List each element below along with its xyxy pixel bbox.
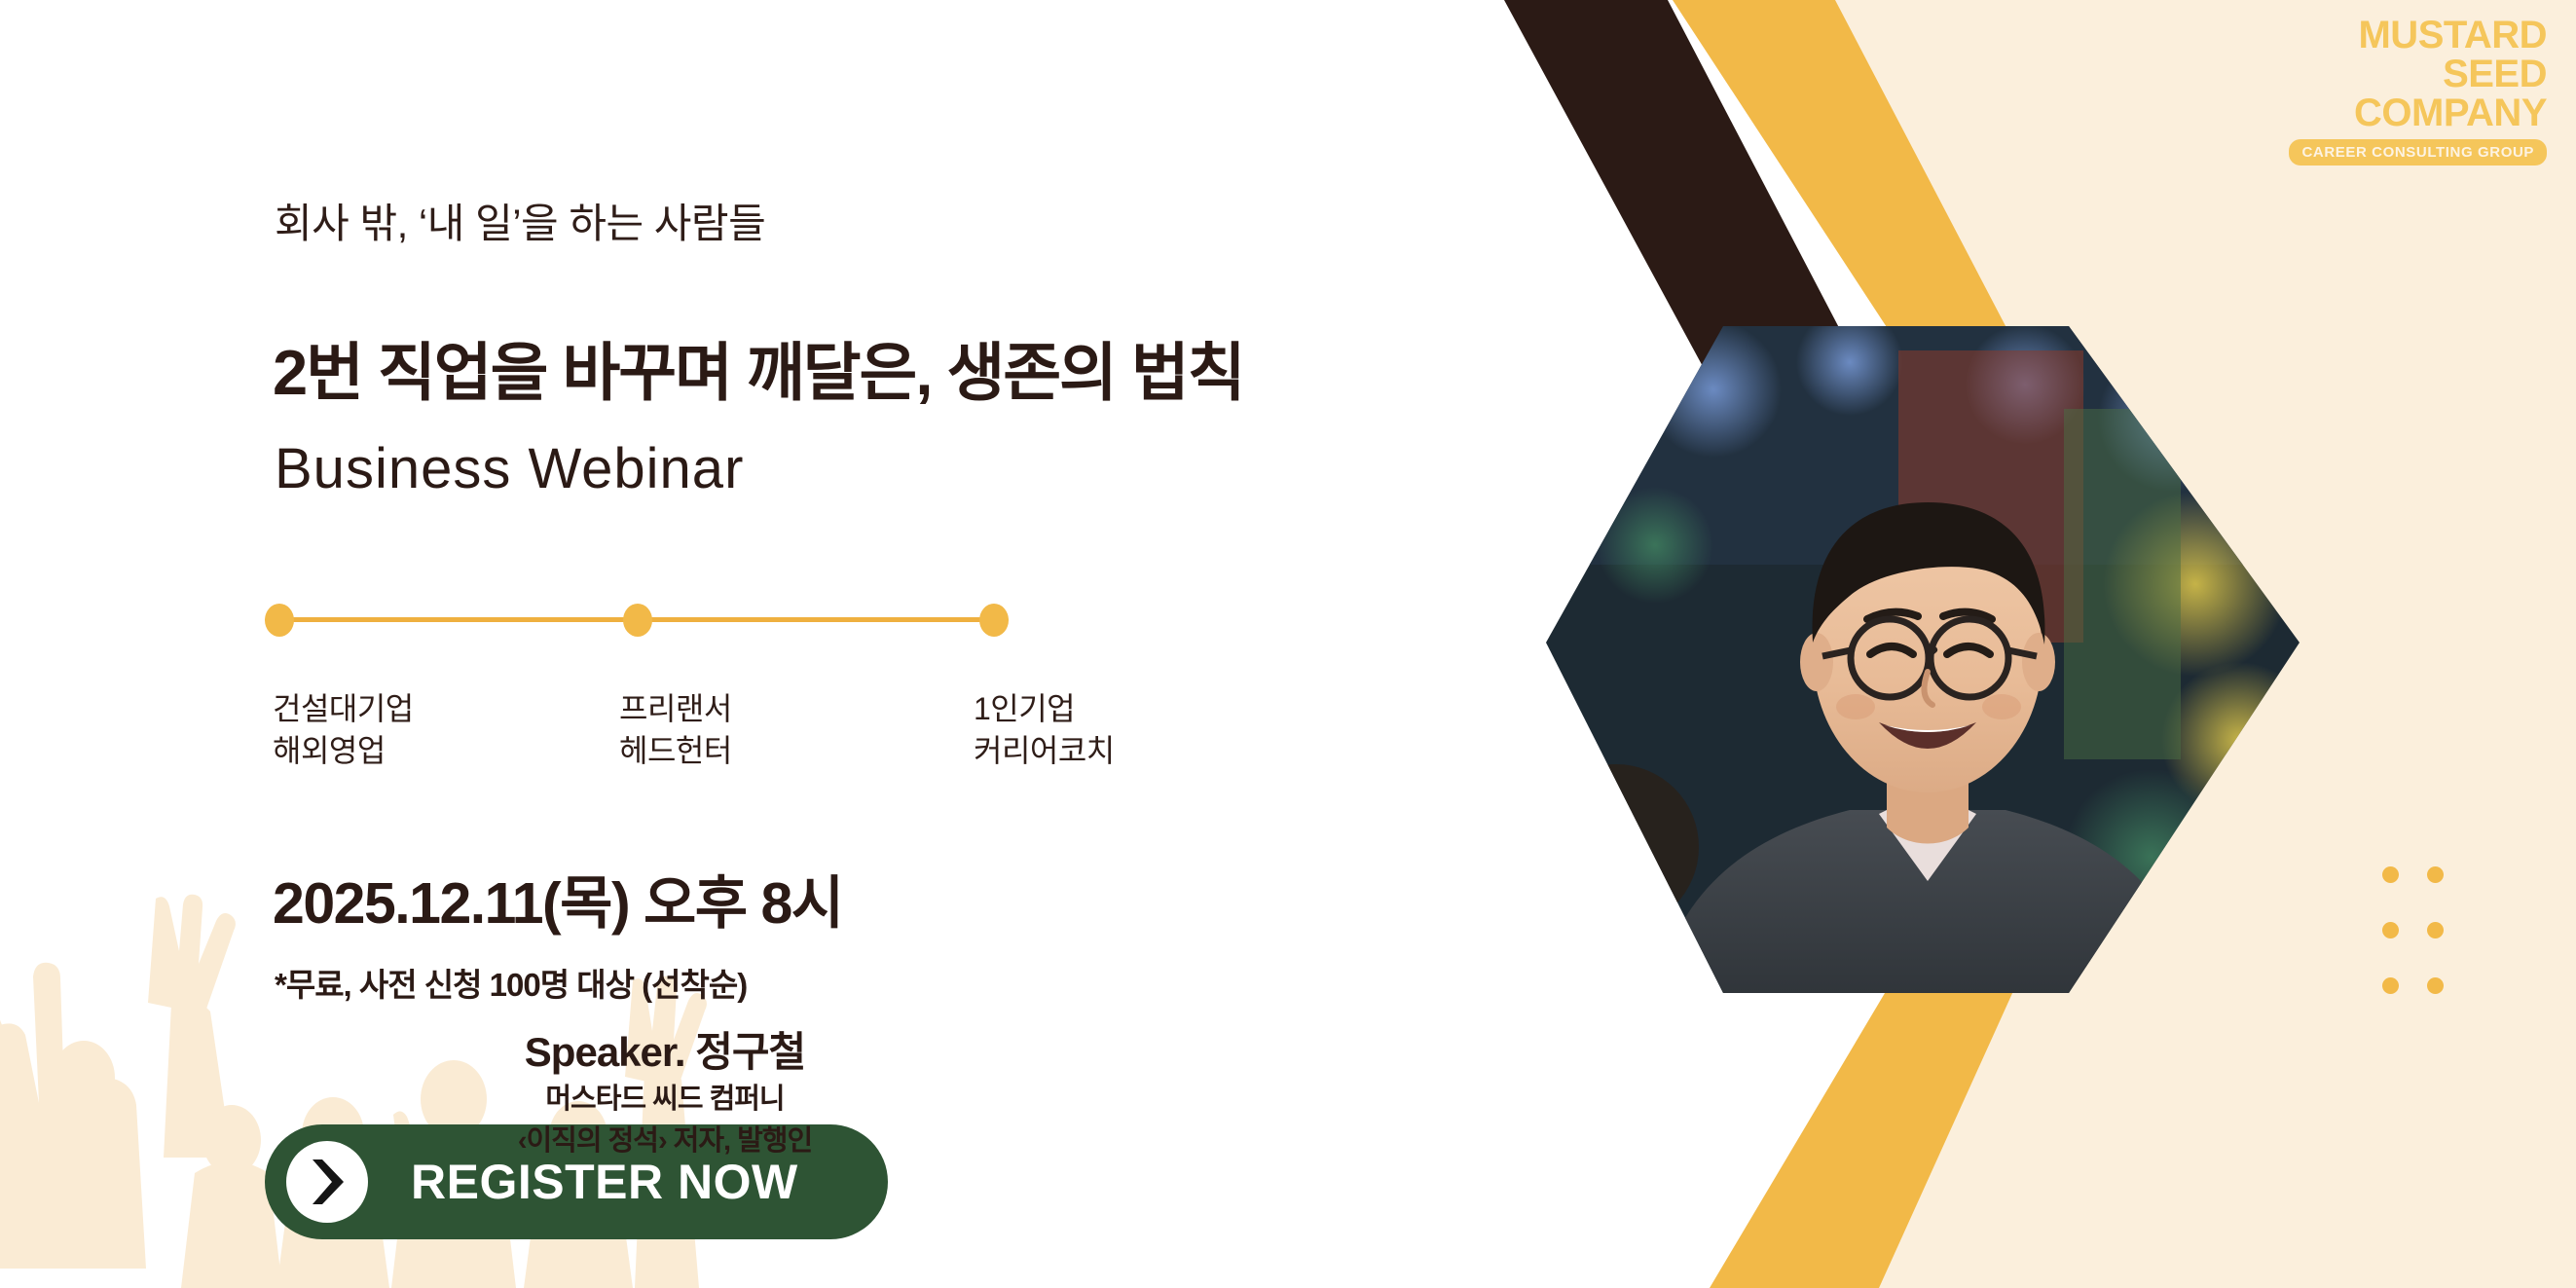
grid-dot-4 [2427, 922, 2444, 938]
logo-line-2: SEED [2264, 55, 2547, 93]
eyebrow-text: 회사 밖, ‘내 일’을 하는 사람들 [275, 191, 765, 250]
grid-dot-1 [2382, 866, 2399, 883]
register-now-button[interactable]: REGISTER NOW [265, 1124, 888, 1239]
grid-dot-3 [2382, 922, 2399, 938]
chevron-right-icon [286, 1141, 368, 1223]
logo-line-3: COMPANY [2264, 93, 2547, 132]
page-title: 2번 직업을 바꾸며 깨달은, 생존의 법칙 [273, 321, 1244, 413]
logo-tagline: CAREER CONSULTING GROUP [2289, 139, 2547, 166]
webinar-promo-banner: MUSTARD SEED COMPANY CAREER CONSULTING G… [0, 0, 2576, 1288]
brand-logo: MUSTARD SEED COMPANY CAREER CONSULTING G… [2264, 16, 2547, 166]
grid-dot-6 [2427, 977, 2444, 994]
event-datetime: 2025.12.11(목) 오후 8시 [273, 857, 843, 939]
logo-line-1: MUSTARD [2264, 16, 2547, 55]
event-note: *무료, 사전 신청 100명 대상 (선착순) [275, 959, 747, 1006]
grid-dot-5 [2382, 977, 2399, 994]
grid-dot-2 [2427, 866, 2444, 883]
register-now-label: REGISTER NOW [411, 1154, 798, 1210]
subtitle-text: Business Webinar [275, 436, 744, 501]
